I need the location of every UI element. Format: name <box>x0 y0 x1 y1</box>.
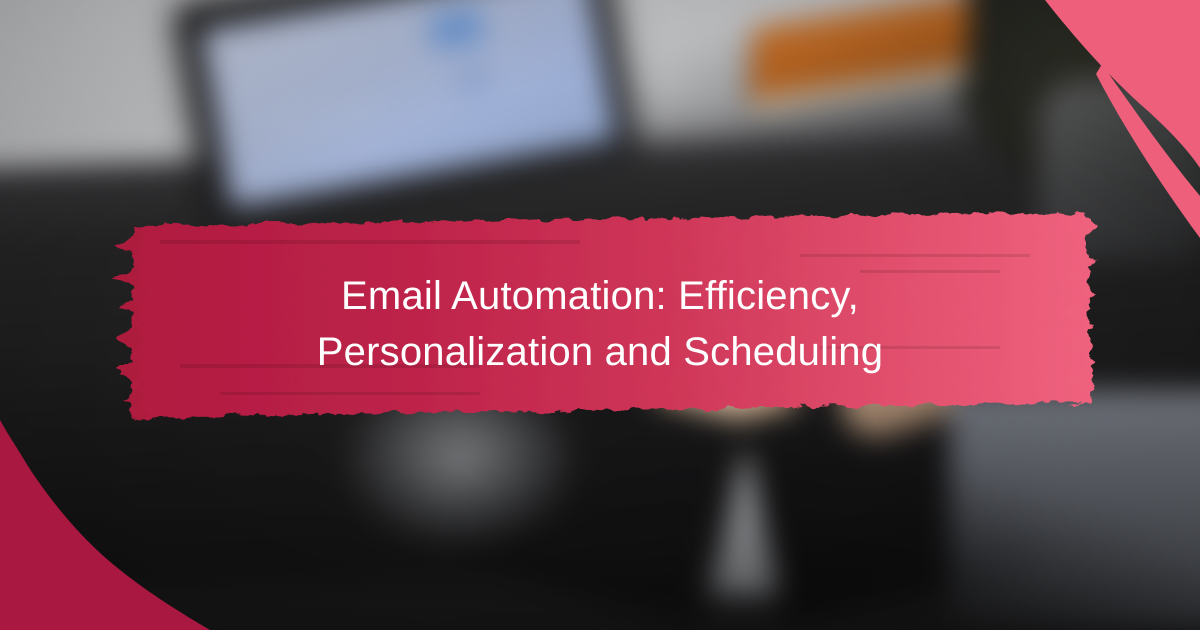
banner-title-line-1: Email Automation: Efficiency, <box>341 274 859 318</box>
social-share-banner: Email Automation: Efficiency, Personaliz… <box>0 0 1200 630</box>
banner-title-line-2: Personalization and Scheduling <box>317 330 883 374</box>
banner-title: Email Automation: Efficiency, Personaliz… <box>160 268 1040 380</box>
